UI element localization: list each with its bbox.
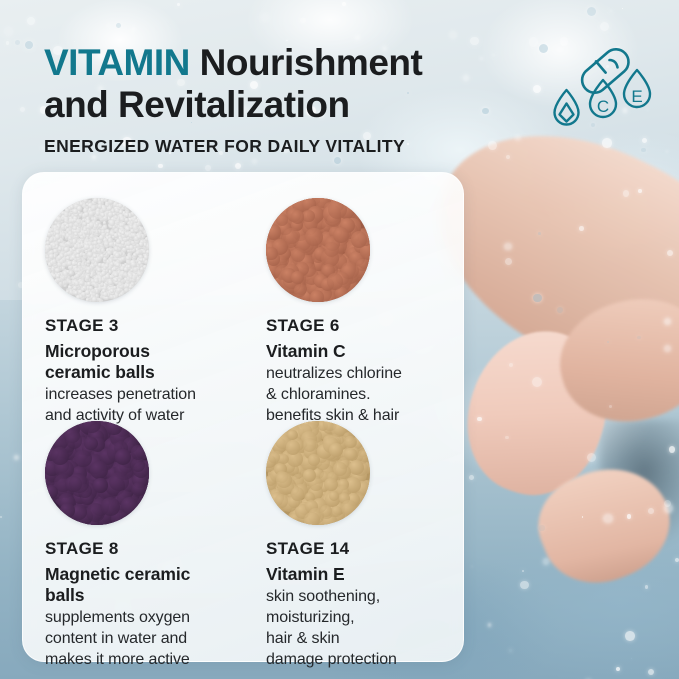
droplet-vitamin-a-icon <box>555 90 579 125</box>
stage-title-line-2: balls <box>45 585 84 605</box>
stage-card-1[interactable]: STAGE 6 Vitamin C neutralizes chlorine &… <box>266 198 476 426</box>
page-subtitle: ENERGIZED WATER FOR DAILY VITALITY <box>44 136 405 157</box>
title-accent-word: VITAMIN <box>44 42 190 83</box>
magnetic-ceramic-balls-image <box>45 421 149 525</box>
page-title: VITAMIN Nourishment and Revitalization <box>44 42 564 126</box>
infographic-root: VITAMIN Nourishment and Revitalization E… <box>0 0 679 679</box>
vitamin-e-balls-image <box>266 421 370 525</box>
stage-desc-line-1: skin soothening, <box>266 588 380 605</box>
stage-card-3[interactable]: STAGE 14 Vitamin E skin soothening, mois… <box>266 421 476 670</box>
stages-panel: STAGE 3 Microporous ceramic balls increa… <box>22 172 464 662</box>
stage-description: supplements oxygen content in water and … <box>45 607 255 670</box>
microporous-ceramic-balls-image <box>45 198 149 302</box>
stage-desc-line-1: increases penetration <box>45 386 196 403</box>
stage-card-2[interactable]: STAGE 8 Magnetic ceramic balls supplemen… <box>45 421 255 670</box>
stage-label: STAGE 3 <box>45 316 255 336</box>
stage-label: STAGE 14 <box>266 539 476 559</box>
stage-desc-line-2: content in water and <box>45 630 187 647</box>
stage-title: Vitamin E <box>266 564 476 585</box>
stage-desc-line-3: makes it more active <box>45 651 190 668</box>
capsule-icon <box>582 49 628 92</box>
stage-title: Vitamin C <box>266 341 476 362</box>
stage-label: STAGE 8 <box>45 539 255 559</box>
stage-description: increases penetration and activity of wa… <box>45 384 255 426</box>
stage-title: Microporous ceramic balls <box>45 341 255 383</box>
stage-title-line-2: ceramic balls <box>45 362 155 382</box>
vitamin-c-balls-image <box>266 198 370 302</box>
title-line-1: VITAMIN Nourishment <box>44 42 564 84</box>
stage-desc-line-2: & chloramines. <box>266 386 370 403</box>
stage-card-0[interactable]: STAGE 3 Microporous ceramic balls increa… <box>45 198 255 426</box>
stage-title: Magnetic ceramic balls <box>45 564 255 606</box>
stage-desc-line-4: damage protection <box>266 651 397 668</box>
droplet-e-label: E <box>631 87 642 106</box>
stage-label: STAGE 6 <box>266 316 476 336</box>
stage-title-line-1: Microporous <box>45 341 150 361</box>
stage-desc-line-2: moisturizing, <box>266 609 355 626</box>
droplet-c-label: C <box>597 97 609 116</box>
stage-desc-line-1: supplements oxygen <box>45 609 190 626</box>
stage-desc-line-3: hair & skin <box>266 630 340 647</box>
stage-description: skin soothening, moisturizing, hair & sk… <box>266 586 476 670</box>
title-line-2: and Revitalization <box>44 84 564 126</box>
stage-desc-line-1: neutralizes chlorine <box>266 365 402 382</box>
stage-title-line-1: Magnetic ceramic <box>45 564 190 584</box>
stage-description: neutralizes chlorine & chloramines. bene… <box>266 363 476 426</box>
capsule-and-droplets-icon: C E <box>552 46 658 134</box>
stage-title-line-1: Vitamin C <box>266 341 346 361</box>
stage-title-line-1: Vitamin E <box>266 564 345 584</box>
title-line-1-rest: Nourishment <box>190 42 422 83</box>
stages-grid: STAGE 3 Microporous ceramic balls increa… <box>23 173 463 661</box>
